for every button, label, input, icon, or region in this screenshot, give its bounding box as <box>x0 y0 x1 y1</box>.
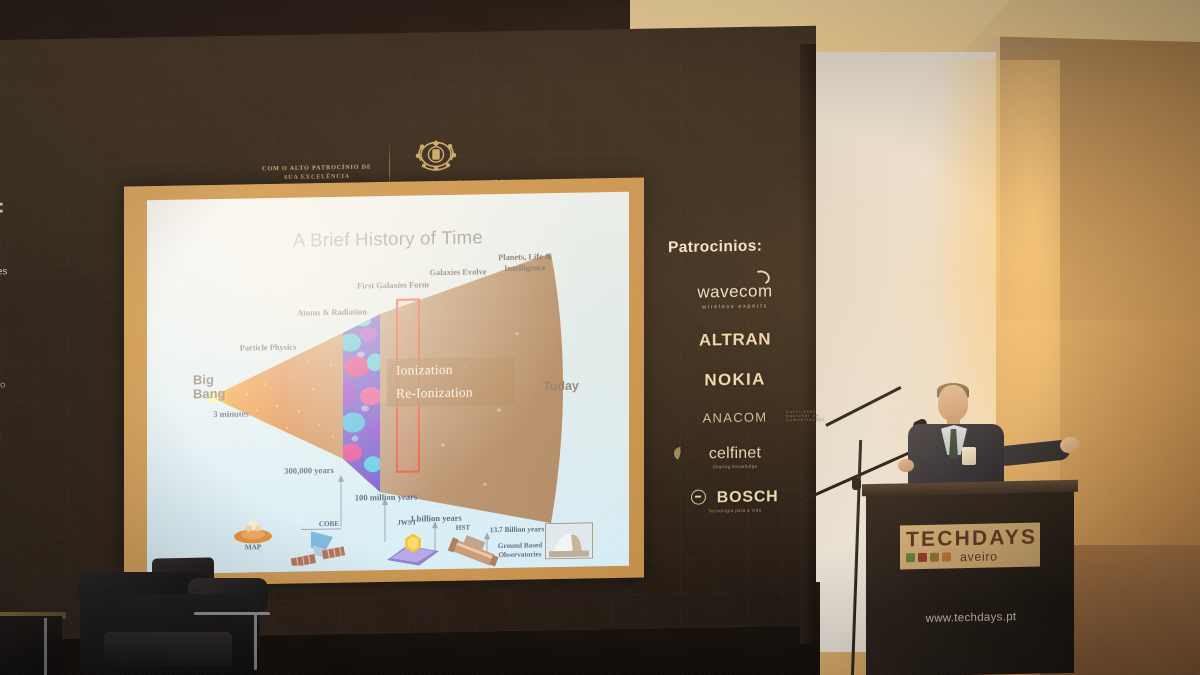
endpoint-big-bang: Big Bang <box>193 373 241 402</box>
sponsor-tagline-bosch: Tecnologia para a vida <box>660 507 810 515</box>
mic-stand-joint <box>852 478 861 490</box>
epoch-label-galaxies-evolve: Galaxies Evolve <box>425 266 491 278</box>
techdays-icon-square-3 <box>930 553 939 562</box>
sponsor-tagline-anacom: Autoridade Nacional de Comunicações <box>786 409 828 422</box>
podium <box>866 486 1074 675</box>
ionization-label-line2: Re-Ionization <box>387 380 515 405</box>
side-table <box>0 616 62 675</box>
techdays-subtitle: aveiro <box>960 549 998 564</box>
instrument-label-ground-based-observatories: Ground Based Observatories <box>491 541 549 560</box>
left-column-logo: RIA <box>0 359 94 383</box>
sponsor-logo-bosch: BOSCH Tecnologia para a vida <box>660 488 810 515</box>
armchair <box>58 572 273 675</box>
side-table-leg <box>44 618 47 675</box>
jwst-telescope-icon <box>383 529 445 573</box>
left-column-title: ação: <box>0 195 94 219</box>
bosch-mark-icon <box>691 489 706 504</box>
ground-observatory-photo <box>545 522 593 564</box>
epoch-label-planets-life-intelligence: Planets, Life & Intelligence <box>483 251 567 274</box>
sponsor-name-altran: ALTRAN <box>699 329 771 349</box>
instrument-label-hst: HST <box>447 522 479 534</box>
cosmic-timeline-diagram: Particle Physics Atoms & Radiation First… <box>147 192 629 574</box>
cmb-patch <box>337 306 387 502</box>
conference-photo-scene: Com o Alto Patrocínio de Sua Excelência <box>0 0 1200 675</box>
armchair-chrome-rail <box>194 612 270 615</box>
ionization-callout: Ionization Re-Ionization <box>387 357 515 407</box>
epoch-label-atoms-radiation: Atoms & Radiation <box>297 306 367 318</box>
armchair-cushion <box>104 632 232 666</box>
instrument-label-jwst: JWST <box>387 517 427 529</box>
endpoint-today: Today <box>543 379 579 394</box>
sponsor-logo-altran: ALTRAN <box>660 329 810 352</box>
ionization-label-line1: Ionization <box>387 357 515 382</box>
speaker-name-badge <box>962 447 976 465</box>
portuguese-republic-crest-icon <box>410 137 462 178</box>
projection-screen: A Brief History of Time <box>147 192 629 574</box>
speaker-left-hand <box>898 459 914 472</box>
sponsor-logo-wavecom: wavecom wireless experts <box>660 281 810 312</box>
sponsor-logo-celfinet: celfinet Sharing Knowledge <box>660 444 810 471</box>
patronage-line: Com o Alto Patrocínio de Sua Excelência <box>258 162 376 182</box>
sponsor-name-anacom: ANACOM <box>703 409 768 425</box>
techdays-icon-square-1 <box>906 553 915 562</box>
techdays-icon-square-2 <box>918 553 927 562</box>
banner-left-column: ação: to de municações rsidade eiro RIA … <box>0 195 94 390</box>
sponsor-name-nokia: NOKIA <box>704 369 765 389</box>
techdays-wordmark: TECHDAYS <box>900 527 1040 550</box>
techdays-icon-row: aveiro <box>900 548 1040 565</box>
sponsor-name-celfinet: celfinet <box>709 445 761 463</box>
sponsors-column: Patrocinios: wavecom wireless experts AL… <box>660 237 810 535</box>
time-marker-3-minutes: 3 minutes <box>205 408 257 420</box>
epoch-label-particle-physics: Particle Physics <box>233 341 303 353</box>
celfinet-mark-icon <box>674 447 687 460</box>
time-marker-300000-years: 300,000 years <box>277 465 341 477</box>
sponsor-name-bosch: BOSCH <box>717 488 779 506</box>
sponsor-logo-nokia: NOKIA <box>660 369 810 392</box>
time-marker-100-million-years: 100 million years <box>353 491 419 503</box>
armchair-chrome-leg <box>254 612 257 670</box>
epoch-label-first-galaxies-form: First Galaxies Form <box>355 279 431 291</box>
cobe-satellite-icon <box>289 529 349 571</box>
techdays-logo: TECHDAYS aveiro <box>900 523 1040 570</box>
sponsor-logo-anacom: ANACOM Autoridade Nacional de Comunicaçõ… <box>660 409 810 427</box>
instrument-label-cobe: COBE <box>307 519 351 531</box>
techdays-icon-square-4 <box>942 552 951 561</box>
instrument-label-map: MAP <box>229 542 277 554</box>
sponsor-tagline-celfinet: Sharing Knowledge <box>660 463 810 471</box>
sponsor-tagline-wavecom: wireless experts <box>660 303 810 312</box>
sponsors-title: Patrocinios: <box>660 237 810 258</box>
